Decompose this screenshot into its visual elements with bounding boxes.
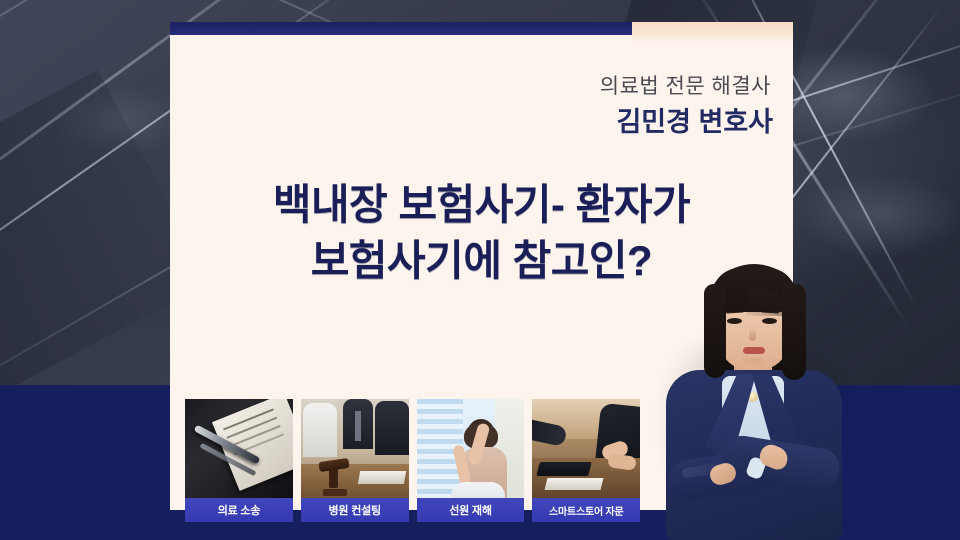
thumbnail-image-distressed-woman: [417, 399, 525, 504]
service-thumbnail-strip: 의료 소송 병원 컨설팅 선원 재해: [185, 399, 640, 522]
service-card-medical-litigation[interactable]: 의료 소송: [185, 399, 293, 522]
thumbnail-image-consulting-desk: [532, 399, 640, 504]
card-top-peach-strip: [632, 22, 793, 44]
service-card-smartstore-advisory[interactable]: 스마트스토어 자문: [532, 399, 640, 522]
service-label: 스마트스토어 자문: [532, 498, 640, 522]
service-card-seafarer-accident[interactable]: 선원 재해: [417, 399, 525, 522]
thumbnail-image-contract: [185, 399, 293, 504]
service-label: 의료 소송: [185, 498, 293, 522]
thumbnail-image-meeting: [301, 399, 409, 504]
service-label: 병원 컨설팅: [301, 498, 409, 522]
card-top-navy-bar: [170, 22, 632, 35]
service-label: 선원 재해: [417, 498, 525, 522]
kicker-text: 의료법 전문 해결사: [600, 70, 771, 100]
thumbnail-canvas: 의료법 전문 해결사 김민경 변호사 백내장 보험사기- 환자가 보험사기에 참…: [0, 0, 960, 540]
headline-line-1: 백내장 보험사기- 환자가: [273, 181, 690, 228]
lawyer-name: 김민경 변호사: [616, 100, 773, 139]
lawyer-portrait: [648, 258, 858, 540]
service-card-hospital-consulting[interactable]: 병원 컨설팅: [301, 399, 409, 522]
